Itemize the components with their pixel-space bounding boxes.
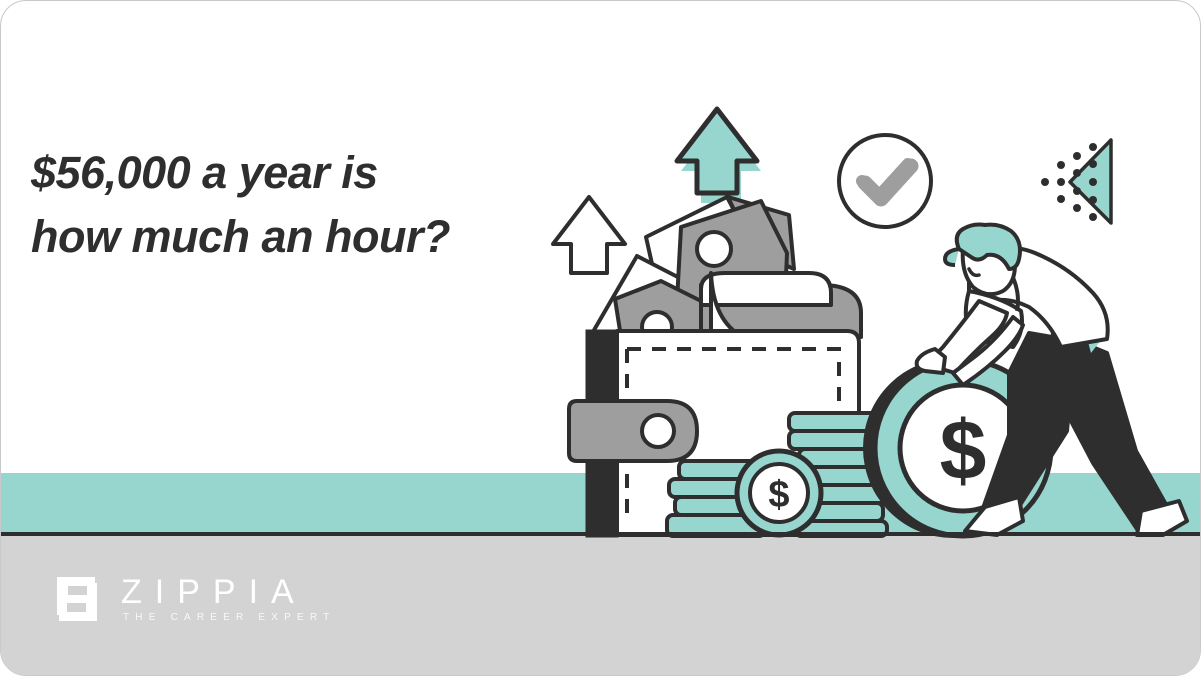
page-title: $56,000 a year is how much an hour? xyxy=(31,141,461,269)
banknotes-icon xyxy=(590,197,861,342)
zippia-monogram-icon xyxy=(53,573,105,625)
brand-logo: ZIPPIA THE CAREER EXPERT xyxy=(53,573,335,625)
logo-wordmark: ZIPPIA xyxy=(121,575,335,611)
arrow-up-teal-icon xyxy=(677,109,761,203)
dotted-triangle-icon xyxy=(1041,140,1111,223)
checkmark-badge-icon xyxy=(839,135,931,227)
logo-text: ZIPPIA THE CAREER EXPERT xyxy=(121,575,335,624)
logo-tagline: THE CAREER EXPERT xyxy=(123,612,335,623)
arrow-up-white-icon xyxy=(553,197,625,273)
teal-ground-band xyxy=(1,473,1201,533)
infographic-card: $56,000 a year is how much an hour? xyxy=(0,0,1201,676)
